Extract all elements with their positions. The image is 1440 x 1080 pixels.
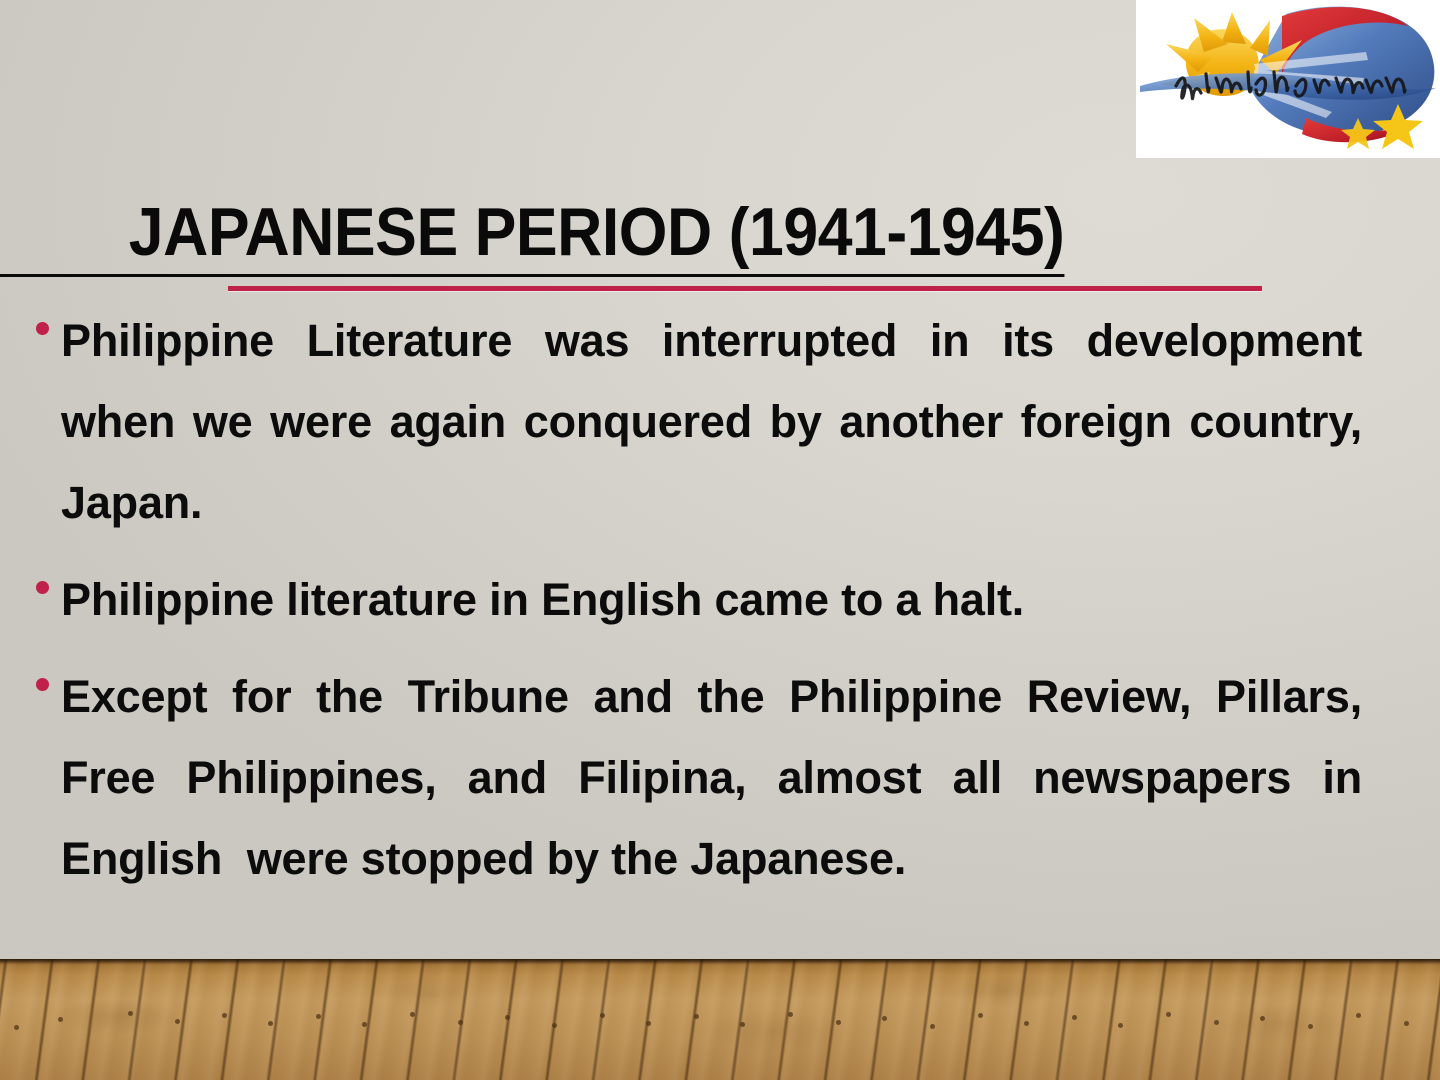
philippine-sun-stars-logo xyxy=(1136,0,1440,158)
floor-nail-heads xyxy=(0,959,1440,1080)
bullet-dot-icon xyxy=(36,581,49,594)
bullet-text: Philippine literature in English came to… xyxy=(61,559,1362,640)
logo-artwork xyxy=(1136,0,1440,158)
bullet-dot-icon xyxy=(36,678,49,691)
presentation-slide: JAPANESE PERIOD (1941-1945) Philippine L… xyxy=(0,0,1440,1080)
list-item: Philippine literature in English came to… xyxy=(36,559,1362,640)
wooden-floor-image xyxy=(0,959,1440,1080)
bullet-list: Philippine Literature was interrupted in… xyxy=(36,300,1362,915)
bullet-text: Philippine Literature was interrupted in… xyxy=(61,300,1362,543)
list-item: Philippine Literature was interrupted in… xyxy=(36,300,1362,543)
bullet-dot-icon xyxy=(36,322,49,335)
floor-top-shadow xyxy=(0,959,1440,964)
list-item: Except for the Tribune and the Philippin… xyxy=(36,656,1362,899)
title-block: JAPANESE PERIOD (1941-1945) xyxy=(0,192,1440,277)
bullet-text: Except for the Tribune and the Philippin… xyxy=(61,656,1362,899)
page-title: JAPANESE PERIOD (1941-1945) xyxy=(0,192,1064,277)
title-accent-rule xyxy=(228,286,1262,291)
